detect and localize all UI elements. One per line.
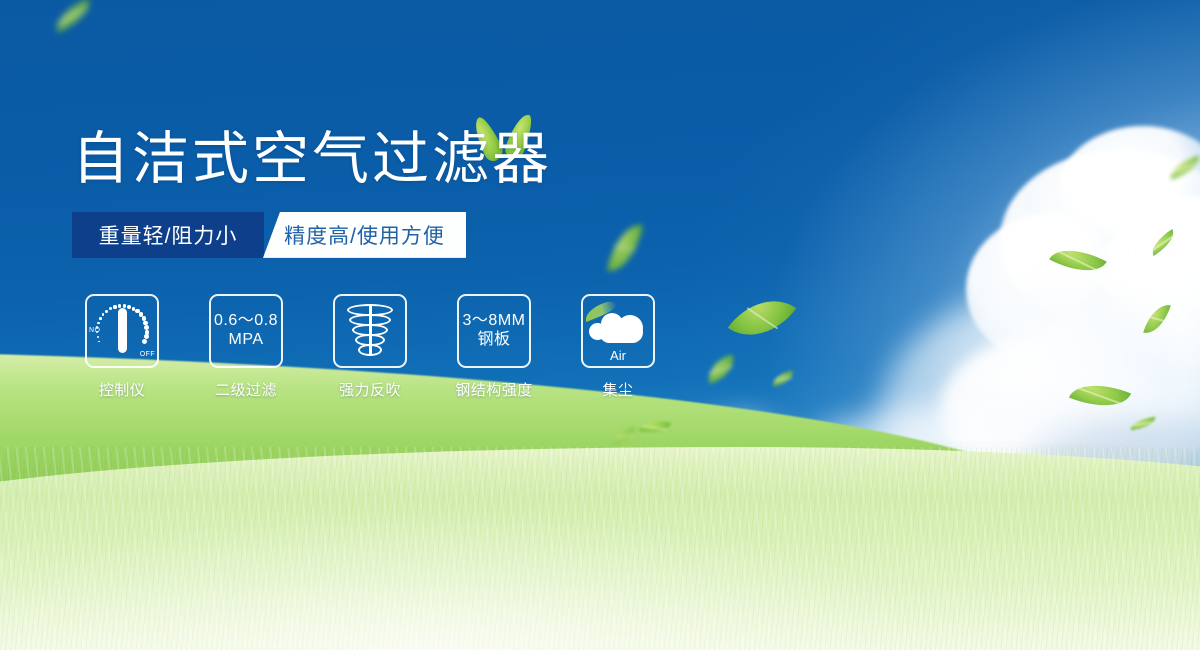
steel-plate-icon: 3～8MM 钢板 [463, 312, 526, 349]
gauge-tick-dot [118, 304, 121, 307]
page-title: 自洁式空气过滤器 [72, 130, 712, 190]
product-banner: 自洁式空气过滤器 重量轻/阻力小 精度高/使用方便 NO OFF 控制仪 [0, 0, 1200, 650]
feature-list: NO OFF 控制仪 0.6～0.8 MPA 二级过滤 [72, 294, 712, 400]
feature-item-controller[interactable]: NO OFF 控制仪 [72, 294, 172, 400]
gauge-label-no: NO [89, 327, 100, 334]
feature-icon-box: 0.6～0.8 MPA [209, 294, 283, 368]
cloud-body [599, 321, 643, 343]
feature-label: 控制仪 [99, 379, 146, 400]
feature-item-steel-strength[interactable]: 3～8MM 钢板 钢结构强度 [444, 294, 544, 400]
subtitle-badge-right: 精度高/使用方便 [263, 212, 466, 258]
gauge-tick-dot [142, 316, 146, 320]
banner-content: 自洁式空气过滤器 重量轻/阻力小 精度高/使用方便 NO OFF 控制仪 [72, 130, 712, 400]
gauge-tick-dot [99, 317, 102, 320]
feature-label: 钢结构强度 [455, 379, 533, 400]
feature-item-back-blow[interactable]: 强力反吹 [320, 294, 420, 400]
gauge-tick-dot [127, 305, 131, 309]
gauge-tick-dot [123, 304, 127, 308]
feature-item-dust-collect[interactable]: Air 集尘 [568, 294, 668, 400]
subtitle-bar: 重量轻/阻力小 精度高/使用方便 [72, 212, 466, 258]
feature-item-two-stage[interactable]: 0.6～0.8 MPA 二级过滤 [196, 294, 296, 400]
feature-icon-box [333, 294, 407, 368]
feature-label: 强力反吹 [339, 379, 401, 400]
air-blast-icon [342, 302, 398, 360]
gauge-tick-dot [102, 313, 105, 316]
gauge-tick-dot [97, 336, 99, 338]
feature-icon-box: NO OFF [85, 294, 159, 368]
blast-ring [358, 344, 382, 356]
gauge-tick-dot [105, 310, 108, 313]
feature-icon-box: Air [581, 294, 655, 368]
gauge-needle [118, 308, 127, 353]
feature-icon-box: 3～8MM 钢板 [457, 294, 531, 368]
gauge-label-off: OFF [140, 351, 155, 358]
hill-near [0, 447, 1200, 650]
gauge-tick-dot [113, 305, 116, 308]
feature-label: 集尘 [602, 379, 633, 400]
gauge-tick-dot [97, 322, 99, 324]
cloud-air-icon: Air [587, 303, 649, 359]
pressure-icon: 0.6～0.8 MPA [214, 312, 278, 349]
subtitle-badge-left: 重量轻/阻力小 [72, 212, 264, 258]
gauge-tick-dot [98, 341, 100, 343]
gauge-tick-dot [142, 339, 147, 344]
gauge-dial-icon: NO OFF [90, 299, 154, 363]
gauge-tick-dot [109, 307, 112, 310]
air-label: Air [587, 348, 649, 363]
feature-label: 二级过滤 [215, 379, 277, 400]
